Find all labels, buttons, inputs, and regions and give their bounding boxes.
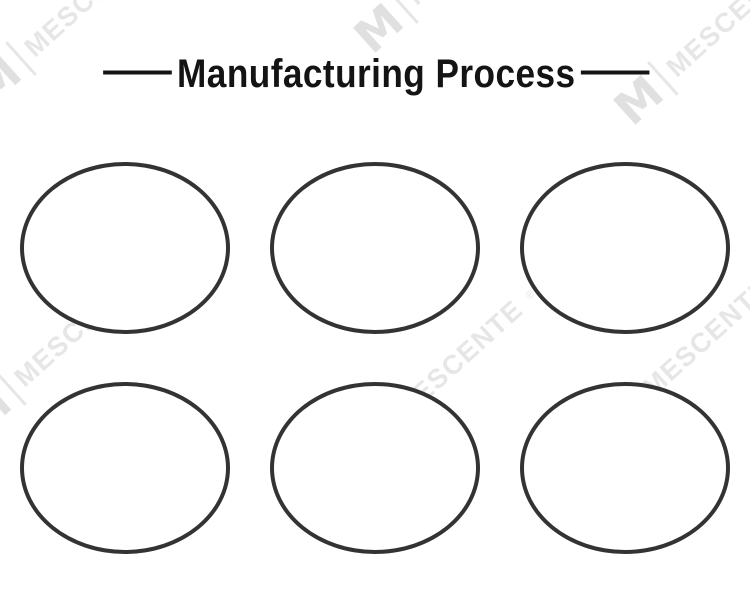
wick-setting-svg bbox=[529, 171, 721, 325]
gallery-item-raw-material-soybeans[interactable] bbox=[20, 162, 230, 334]
soybeans-illustration bbox=[29, 171, 221, 325]
gallery-item-wax-pouring[interactable] bbox=[270, 162, 480, 334]
warehouse-illustration bbox=[529, 391, 721, 545]
photo-carton-packing bbox=[279, 391, 471, 545]
page-root: M MESCENTE ® M MESCENTE ® M MESCENTE ® M… bbox=[0, 0, 750, 593]
watermark-divider bbox=[387, 0, 419, 24]
photo-warehouse-shipping bbox=[529, 391, 721, 545]
process-gallery bbox=[0, 150, 750, 575]
carton-packing-svg bbox=[279, 391, 471, 545]
title-dash-right: —— bbox=[580, 50, 647, 90]
wax-pouring-svg bbox=[279, 171, 471, 325]
page-title: —— Manufacturing Process —— bbox=[0, 54, 750, 94]
gallery-item-wick-setting[interactable] bbox=[520, 162, 730, 334]
gallery-item-finished-jars[interactable] bbox=[20, 382, 230, 554]
finished-jars-illustration bbox=[29, 391, 221, 545]
photo-wick-setting bbox=[529, 171, 721, 325]
carton-packing-illustration bbox=[279, 391, 471, 545]
photo-raw-material-soybeans bbox=[29, 171, 221, 325]
gallery-item-warehouse-shipping[interactable] bbox=[520, 382, 730, 554]
watermark-word: MESCENTE bbox=[400, 0, 541, 11]
gallery-item-carton-packing[interactable] bbox=[270, 382, 480, 554]
photo-wax-pouring bbox=[279, 171, 471, 325]
warehouse-svg bbox=[529, 391, 721, 545]
title-label: Manufacturing Process bbox=[177, 54, 575, 94]
wick-setting-illustration bbox=[529, 171, 721, 325]
finished-jars-svg bbox=[29, 391, 221, 545]
title-dash-left: —— bbox=[103, 50, 170, 90]
page-title-text: —— Manufacturing Process —— bbox=[103, 54, 648, 94]
wax-pouring-illustration bbox=[279, 171, 471, 325]
photo-finished-jars bbox=[29, 391, 221, 545]
